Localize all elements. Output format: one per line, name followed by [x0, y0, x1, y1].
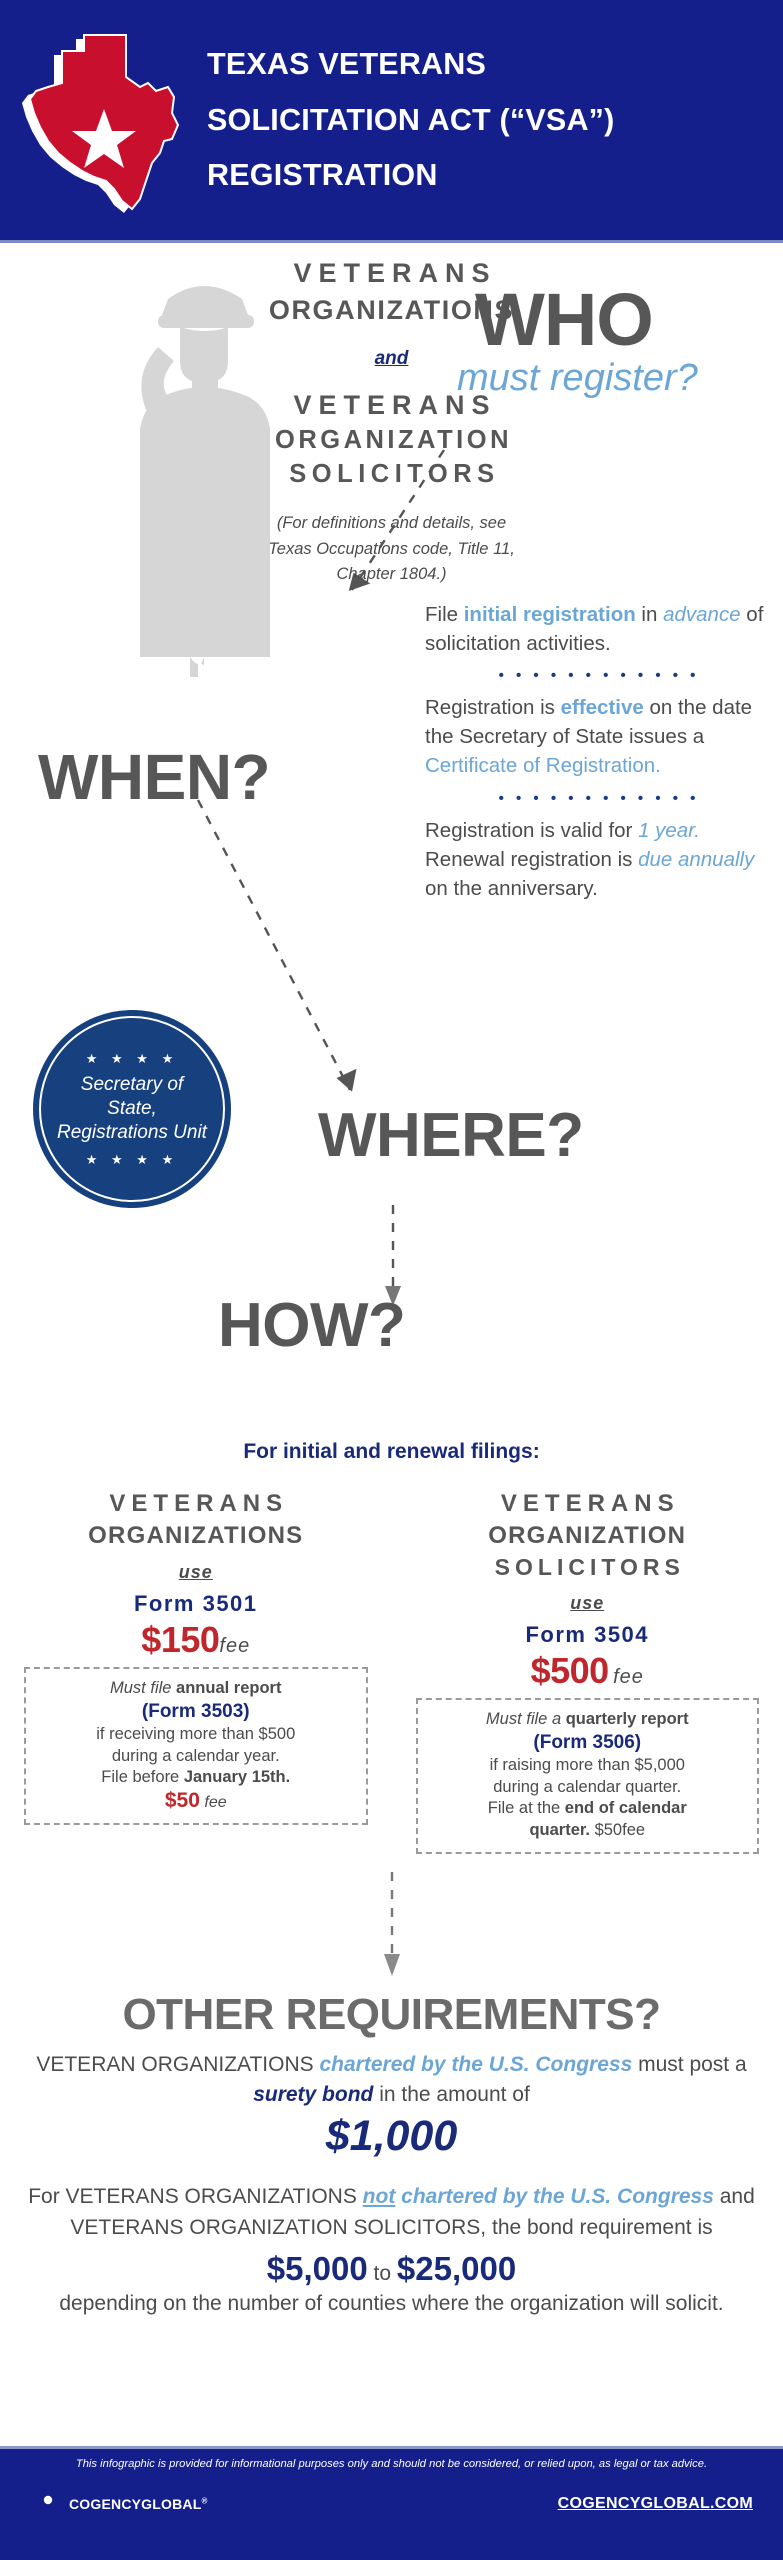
other-requirements-body: VETERAN ORGANIZATIONS chartered by the U…: [24, 2050, 759, 2319]
when-p1-part-c: in: [636, 603, 663, 626]
when-paragraph-1: File initial registration in advance of …: [425, 600, 773, 658]
bond-amount-low: $5,000: [267, 2250, 368, 2287]
website-link[interactable]: COGENCYGLOBAL.COM: [558, 2495, 753, 2513]
when-p3-part-e: on the anniversary.: [425, 877, 598, 900]
footer-bar: This infographic is provided for informa…: [0, 2446, 783, 2560]
forms-columns: VETERANS ORGANIZATIONS use Form 3501 $15…: [0, 1490, 783, 1854]
when-paragraph-3: Registration is valid for 1 year. Renewa…: [425, 816, 773, 903]
definitions-note-line-3: Chapter 1804.): [0, 562, 783, 588]
when-p3-one-year: 1 year.: [638, 819, 700, 842]
form-column-veterans-organizations: VETERANS ORGANIZATIONS use Form 3501 $15…: [0, 1490, 392, 1854]
other-p1-part-a: VETERAN ORGANIZATIONS: [36, 2053, 319, 2076]
form-col-left-box-fee-label: fee: [204, 1794, 226, 1811]
form-col-left-box-line-1: Must file annual report: [32, 1678, 360, 1700]
header-title-line-1: TEXAS VETERANS: [207, 49, 769, 80]
form-col-right-fee-label: fee: [613, 1666, 644, 1688]
other-p1-part-c: must post a: [632, 2053, 746, 2076]
form-col-left-fee-amount: $150: [141, 1619, 219, 1660]
form-col-left-box-fee-amount: $50: [165, 1789, 200, 1812]
header-title-group: TEXAS VETERANS SOLICITATION ACT (“VSA”) …: [197, 49, 783, 191]
dotted-divider-1: • • • • • • • • • • • •: [425, 667, 773, 684]
form-col-left-title-2: ORGANIZATIONS: [24, 1522, 368, 1550]
header-title-line-3: REGISTRATION: [207, 160, 769, 191]
other-p2-chartered: chartered by the U.S. Congress: [395, 2185, 714, 2208]
footer-row: COGENCYGLOBAL® COGENCYGLOBAL.COM: [0, 2471, 783, 2522]
form-col-left-report-box: Must file annual report (Form 3503) if r…: [24, 1667, 368, 1825]
bond-amount-high: $25,000: [397, 2250, 516, 2287]
when-p1-part-a: File: [425, 603, 464, 626]
form-col-left-box-form-number: (Form 3503): [32, 1701, 360, 1723]
when-p3-due-annually: due annually: [638, 848, 754, 871]
surety-bond-amount-chartered: $1,000: [24, 2113, 759, 2160]
form-col-right-box-fee-label: fee: [622, 1821, 645, 1839]
form-col-right-title-1: VETERANS: [416, 1490, 760, 1518]
form-col-right-box-line-2: if raising more than $5,000: [424, 1755, 752, 1777]
footer-disclaimer: This infographic is provided for informa…: [0, 2449, 783, 2471]
form-col-right-box-fee-amount: $50: [595, 1821, 623, 1839]
filings-label: For initial and renewal filings:: [0, 1440, 783, 1464]
form-col-left-form-number: Form 3501: [24, 1591, 368, 1617]
form-col-right-box-line-5: quarter. $50fee: [424, 1820, 752, 1842]
when-p3-part-a: Registration is valid for: [425, 819, 638, 842]
form-col-right-form-number: Form 3504: [416, 1622, 760, 1648]
brand-registered-mark: ®: [202, 2497, 208, 2506]
secretary-of-state-seal: ★ ★ ★ ★ Secretary of State, Registration…: [33, 1010, 231, 1208]
form-col-right-box-line-3: during a calendar quarter.: [424, 1777, 752, 1799]
form-col-left-box-must-file: Must file: [110, 1679, 176, 1697]
surety-bond-amount-range: $5,000 to $25,000: [24, 2249, 759, 2289]
form-col-right-box-must-file: Must file a: [486, 1710, 566, 1728]
form-col-right-box-deadline-2: quarter.: [529, 1821, 590, 1839]
form-col-left-box-line-2: if receiving more than $500: [32, 1724, 360, 1746]
when-heading: WHEN?: [38, 740, 270, 814]
who-heading: WHO: [420, 285, 783, 355]
form-col-left-box-file-before: File before: [101, 1768, 184, 1786]
definitions-note-line-2: Texas Occupations code, Title 11,: [0, 537, 783, 563]
seal-content: ★ ★ ★ ★ Secretary of State, Registration…: [51, 1052, 213, 1165]
dotted-divider-2: • • • • • • • • • • • •: [425, 790, 773, 807]
cogency-crescent-logo-icon: [26, 2486, 62, 2522]
seal-line-3: Registrations Unit: [57, 1121, 207, 1145]
brand-lockup[interactable]: COGENCYGLOBAL®: [26, 2486, 208, 2522]
when-paragraph-2: Registration is effective on the date th…: [425, 693, 773, 780]
form-col-right-use-label: use: [416, 1593, 760, 1614]
when-body-column: File initial registration in advance of …: [425, 600, 773, 903]
infographic-page: TEXAS VETERANS SOLICITATION ACT (“VSA”) …: [0, 0, 783, 2560]
seal-text: Secretary of State, Registrations Unit: [57, 1073, 207, 1144]
other-requirements-heading: OTHER REQUIREMENTS?: [0, 1990, 783, 2040]
other-paragraph-2: For VETERANS ORGANIZATIONS not chartered…: [24, 2182, 759, 2243]
veterans-org-solicitors-line-3: SOLICITORS: [0, 460, 783, 489]
where-heading: WHERE?: [318, 1100, 584, 1171]
definitions-note: (For definitions and details, see Texas …: [0, 511, 783, 588]
form-col-left-title-1: VETERANS: [24, 1490, 368, 1518]
other-paragraph-1: VETERAN ORGANIZATIONS chartered by the U…: [24, 2050, 759, 2111]
form-col-right-box-report-type: quarterly report: [566, 1710, 689, 1728]
other-p1-part-e: in the amount of: [373, 2083, 529, 2106]
form-col-right-report-box: Must file a quarterly report (Form 3506)…: [416, 1698, 760, 1854]
other-p2-not: not: [363, 2185, 396, 2208]
definitions-note-line-1: (For definitions and details, see: [0, 511, 783, 537]
form-col-right-fee-amount: $500: [531, 1650, 609, 1691]
other-p2-part-a: For VETERANS ORGANIZATIONS: [28, 2185, 362, 2208]
form-col-left-use-label: use: [24, 1562, 368, 1583]
when-p1-initial-registration: initial registration: [464, 603, 636, 626]
form-col-left-box-report-type: annual report: [176, 1679, 281, 1697]
when-p2-part-a: Registration is: [425, 696, 561, 719]
form-col-right-title-2: ORGANIZATION: [416, 1522, 760, 1550]
who-heading-group: WHO must register?: [420, 285, 783, 397]
form-col-right-box-line-4: File at the end of calendar: [424, 1798, 752, 1820]
seal-line-1: Secretary of: [57, 1073, 207, 1097]
when-p1-advance: advance: [663, 603, 741, 626]
form-col-left-box-line-4: File before January 15th.: [32, 1767, 360, 1789]
form-col-right-box-deadline: end of calendar: [565, 1799, 687, 1817]
form-col-right-box-file-at: File at the: [488, 1799, 565, 1817]
when-p2-effective: effective: [561, 696, 644, 719]
texas-state-outline-icon: [22, 13, 197, 223]
form-col-left-box-line-3: during a calendar year.: [32, 1746, 360, 1768]
form-col-right-box-line-1: Must file a quarterly report: [424, 1709, 752, 1731]
bond-amount-separator: to: [368, 2262, 397, 2285]
form-col-left-box-fee: $50 fee: [32, 1789, 360, 1813]
other-paragraph-3: depending on the number of counties wher…: [24, 2289, 759, 2319]
form-col-left-fee: $150fee: [24, 1622, 368, 1658]
when-p2-certificate: Certificate of Registration.: [425, 754, 661, 777]
header-title-line-2: SOLICITATION ACT (“VSA”): [207, 105, 769, 136]
how-heading: HOW?: [218, 1290, 405, 1361]
other-p1-chartered: chartered by the U.S. Congress: [320, 2053, 633, 2076]
seal-line-2: State,: [57, 1097, 207, 1121]
form-col-right-fee: $500 fee: [416, 1653, 760, 1689]
seal-stars-top: ★ ★ ★ ★: [57, 1052, 207, 1065]
form-col-left-box-deadline: January 15th.: [184, 1768, 290, 1786]
brand-name: COGENCYGLOBAL®: [69, 2496, 208, 2512]
other-p1-surety-bond: surety bond: [253, 2083, 373, 2106]
form-col-right-box-form-number: (Form 3506): [424, 1732, 752, 1754]
who-subheading: must register?: [420, 359, 783, 397]
veterans-org-solicitors-line-2: ORGANIZATION: [0, 426, 783, 455]
form-column-veterans-organization-solicitors: VETERANS ORGANIZATION SOLICITORS use For…: [392, 1490, 783, 1854]
seal-stars-bottom: ★ ★ ★ ★: [57, 1153, 207, 1166]
when-p3-part-c: Renewal registration is: [425, 848, 638, 871]
header-banner: TEXAS VETERANS SOLICITATION ACT (“VSA”) …: [0, 0, 783, 243]
form-col-left-fee-label: fee: [219, 1635, 250, 1657]
form-col-right-title-3: SOLICITORS: [416, 1554, 760, 1581]
